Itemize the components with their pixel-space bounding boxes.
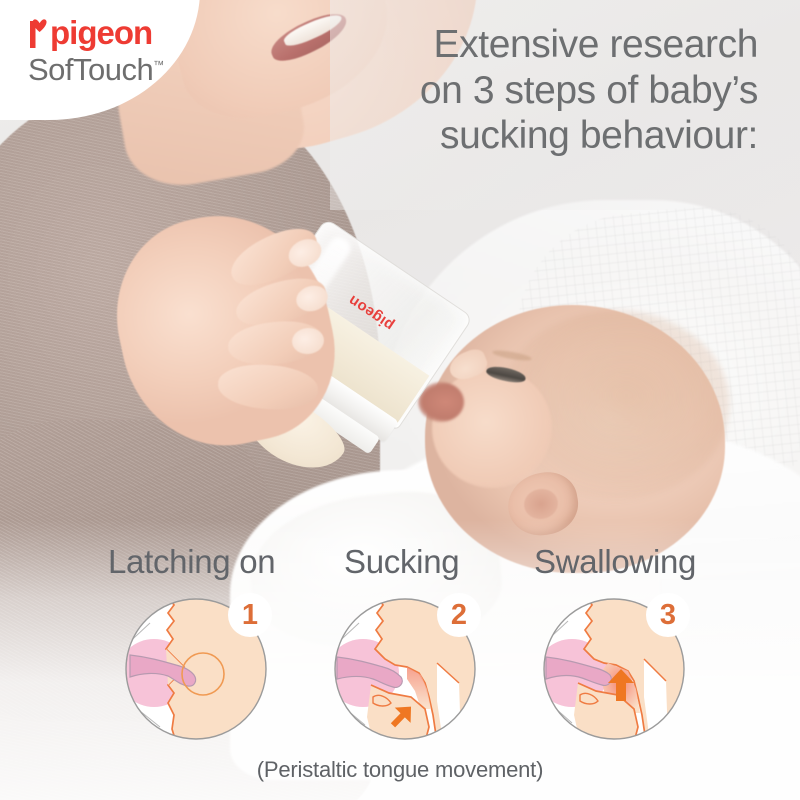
step-diagram-2: 2 [333, 597, 478, 742]
step-diagrams: 1 [0, 589, 800, 754]
heart-p-icon [28, 17, 49, 48]
step-label-1: Latching on [108, 545, 275, 578]
step-badge-1: 1 [228, 593, 272, 637]
product-line-name: SofTouch™ [28, 54, 164, 85]
step-labels: Latching on Sucking Swallowing [0, 545, 800, 589]
page-title: Extensive research on 3 steps of baby’s … [420, 22, 758, 159]
headline-line-2: on 3 steps of baby’s [420, 68, 758, 114]
product-line-text: SofTouch [28, 52, 153, 87]
step-diagram-1: 1 [124, 597, 269, 742]
step-badge-2: 2 [437, 593, 481, 637]
step-label-2: Sucking [344, 545, 459, 578]
step-label-3: Swallowing [534, 545, 696, 578]
step-diagram-3: 3 [542, 597, 687, 742]
step-badge-3: 3 [646, 593, 690, 637]
pigeon-wordmark: pigeon [28, 16, 208, 49]
headline-line-3: sucking behaviour: [420, 113, 758, 159]
headline-line-1: Extensive research [420, 22, 758, 68]
steps-section: Latching on Sucking Swallowing [0, 545, 800, 754]
diagram-caption: (Peristaltic tongue movement) [0, 757, 800, 783]
poster: pigeon pigeon [0, 0, 800, 800]
pigeon-wordmark-text: pigeon [50, 16, 152, 49]
trademark-symbol: ™ [153, 60, 164, 72]
brand-logo[interactable]: pigeon SofTouch™ [28, 16, 208, 85]
